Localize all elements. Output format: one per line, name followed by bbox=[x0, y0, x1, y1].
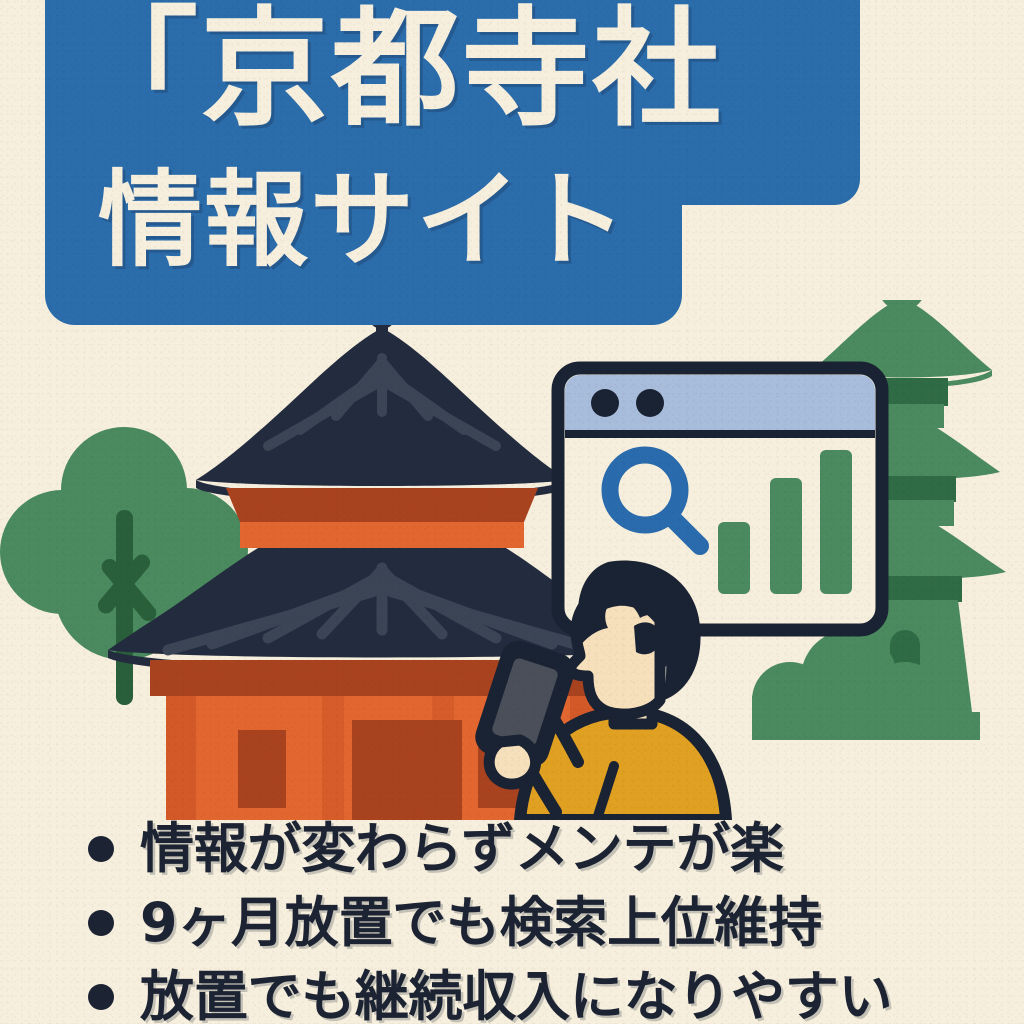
bar-1 bbox=[718, 522, 750, 594]
window-dot-2 bbox=[636, 389, 664, 417]
bar-3 bbox=[820, 450, 852, 594]
poster-canvas: 「京都寺社 情報サイト 情報が変わらずメンテが楽 9ヶ月放置でも検索上位維持 放… bbox=[0, 0, 1024, 1024]
list-item: 情報が変わらずメンテが楽 bbox=[0, 812, 1024, 886]
list-item-label: 情報が変わらずメンテが楽 bbox=[140, 821, 784, 878]
bar-2 bbox=[770, 478, 802, 594]
benefit-list: 情報が変わらずメンテが楽 9ヶ月放置でも検索上位維持 放置でも継続収入になりやす… bbox=[0, 812, 1024, 1024]
list-item: 9ヶ月放置でも検索上位維持 bbox=[0, 886, 1024, 960]
window-dot-1 bbox=[591, 389, 619, 417]
bullet-dot-icon bbox=[88, 910, 114, 936]
illustration-scene bbox=[0, 300, 1024, 820]
list-item: 放置でも継続収入になりやすい bbox=[0, 960, 1024, 1024]
list-item-label: 放置でも継続収入になりやすい bbox=[140, 969, 892, 1024]
scene-svg bbox=[0, 300, 1024, 820]
page-title-line-1: 「京都寺社 bbox=[70, 6, 1024, 134]
list-item-label: 9ヶ月放置でも検索上位維持 bbox=[140, 895, 822, 952]
bullet-dot-icon bbox=[88, 984, 114, 1010]
bullet-dot-icon bbox=[88, 836, 114, 862]
page-title-line-2: 情報サイト bbox=[98, 168, 1024, 272]
title-banner: 「京都寺社 情報サイト bbox=[0, 0, 1024, 340]
